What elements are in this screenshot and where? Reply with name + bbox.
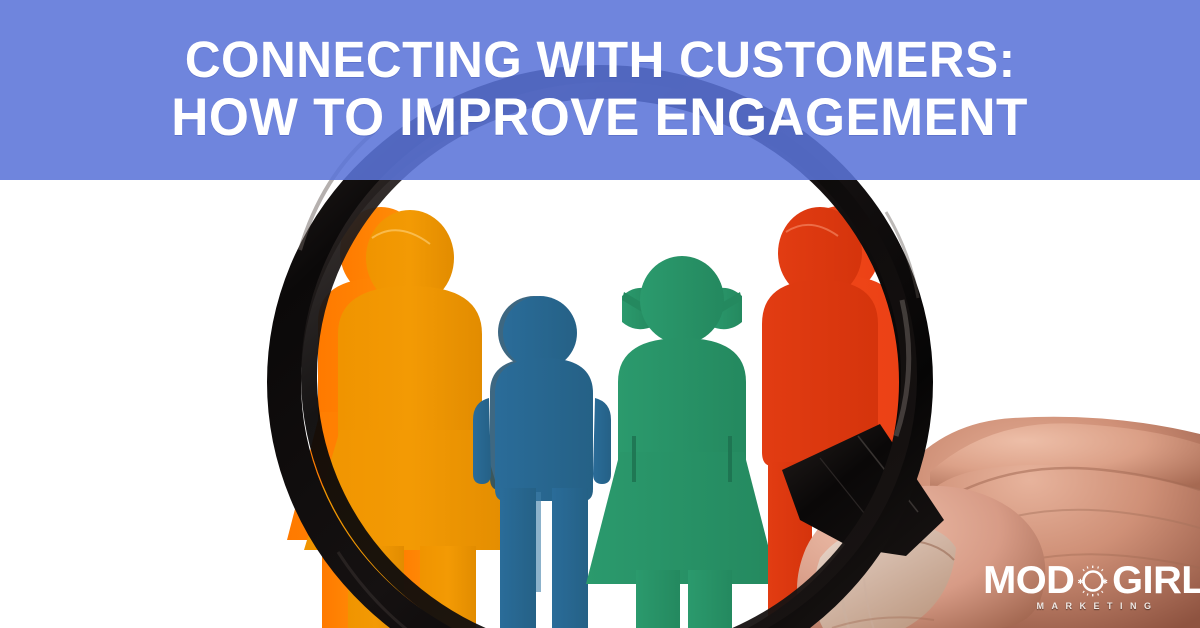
logo-seal-icon: ✱ ✱ [1076,564,1110,598]
page-title-line-1: CONNECTING WITH CUSTOMERS: [185,34,1016,87]
mod-girl-marketing-logo[interactable]: MOD ✱ ✱ [995,562,1193,622]
banner-canvas: CONNECTING WITH CUSTOMERS: HOW TO IMPROV… [0,0,1200,628]
title-banner-header: CONNECTING WITH CUSTOMERS: HOW TO IMPROV… [0,0,1200,180]
logo-tagline: MARKETING [995,601,1193,611]
logo-word-girl: GIRL [1112,562,1200,600]
page-title-line-2: HOW TO IMPROVE ENGAGEMENT [172,91,1029,146]
svg-text:✱: ✱ [1102,578,1108,586]
logo-wordmark: MOD ✱ ✱ [995,562,1193,600]
logo-word-mod: MOD [983,562,1074,600]
svg-text:✱: ✱ [1078,578,1084,586]
